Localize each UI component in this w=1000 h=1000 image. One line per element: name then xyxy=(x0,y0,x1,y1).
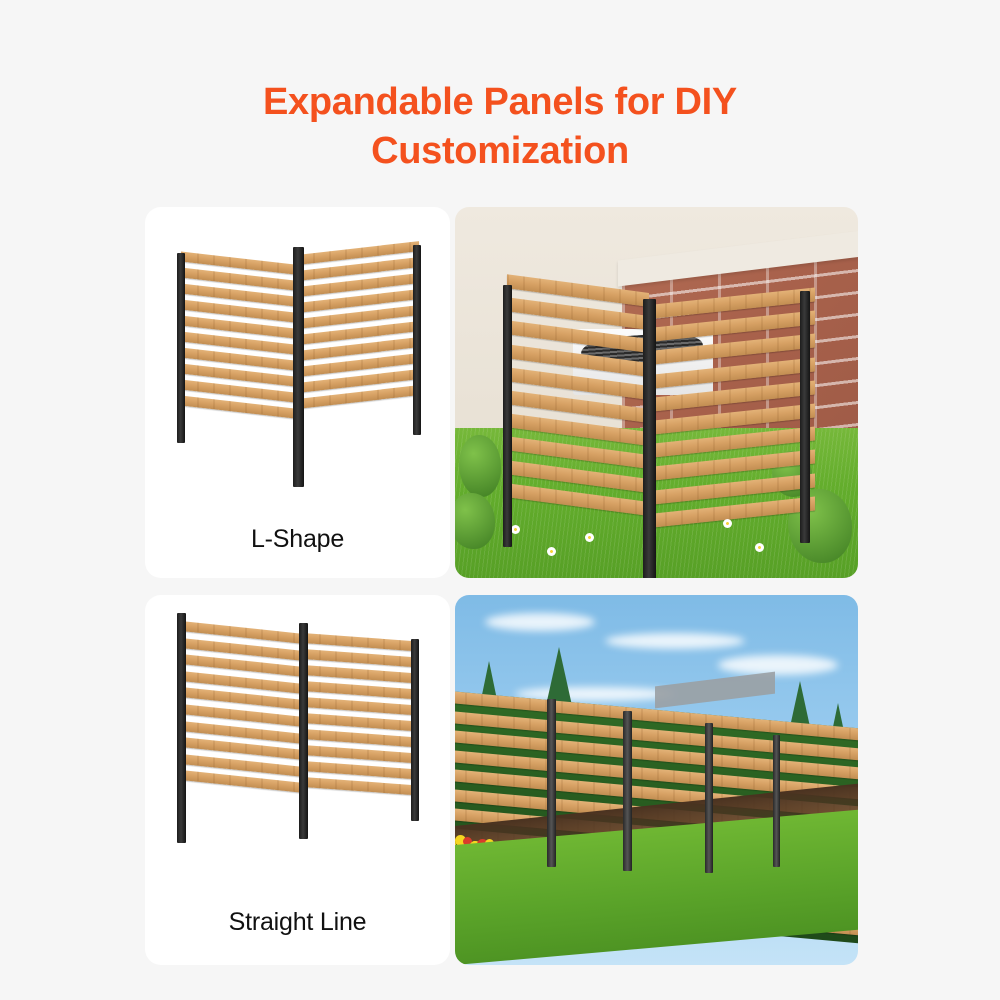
fence-post xyxy=(623,711,632,871)
page-title-line-2: Customization xyxy=(0,127,1000,176)
illustration-card-straight-line: Straight Line xyxy=(145,595,450,965)
straight-line-installation-photo xyxy=(455,595,858,965)
illustration-card-l-shape: L-Shape xyxy=(145,207,450,578)
feature-row-straight-line: Straight Line xyxy=(145,595,858,965)
fence-panel-right xyxy=(649,305,815,555)
page-title: Expandable Panels for DIY Customization xyxy=(0,78,1000,175)
caption-l-shape: L-Shape xyxy=(145,525,450,554)
fence-slat xyxy=(303,777,415,795)
fence-post xyxy=(177,253,185,443)
l-shape-installation-photo xyxy=(455,207,858,578)
fence-slat xyxy=(303,697,415,715)
fence-post xyxy=(293,247,304,487)
cloud xyxy=(605,633,745,649)
fence-post xyxy=(547,699,556,867)
fence-panel xyxy=(507,274,649,525)
daisy-flower xyxy=(755,543,764,552)
l-shape-fence-illustration xyxy=(145,207,450,578)
fence-slat xyxy=(303,729,415,747)
fence-post xyxy=(643,299,656,578)
fence-panel xyxy=(181,252,299,425)
daisy-flower xyxy=(723,519,732,528)
fence-panel xyxy=(649,288,815,537)
daisy-flower xyxy=(585,533,594,542)
fence-post xyxy=(503,285,512,547)
fence-slat xyxy=(303,633,415,651)
fence-panel xyxy=(303,633,415,801)
fence-slat xyxy=(303,713,415,731)
fence-post xyxy=(299,623,308,839)
daisy-flower xyxy=(547,547,556,556)
fence-panel xyxy=(297,241,419,415)
feature-row-l-shape: L-Shape xyxy=(145,207,858,578)
fence-slat xyxy=(303,649,415,667)
shrub xyxy=(459,435,501,497)
fence-slat xyxy=(303,745,415,763)
fence-post xyxy=(177,613,186,843)
cloud xyxy=(485,613,595,631)
page-title-line-1: Expandable Panels for DIY xyxy=(263,81,737,123)
fence-panel xyxy=(181,621,303,800)
fence-post xyxy=(773,735,780,867)
fence-slat xyxy=(303,761,415,779)
fence-slat xyxy=(303,681,415,699)
fence-post xyxy=(411,639,419,821)
fence-post xyxy=(413,245,421,435)
caption-straight-line: Straight Line xyxy=(145,908,450,937)
fence-slat xyxy=(303,665,415,683)
cloud xyxy=(718,655,838,675)
fence-post xyxy=(705,723,713,873)
daisy-flower xyxy=(511,525,520,534)
fence-panel-left xyxy=(507,293,649,543)
fence-post xyxy=(800,291,810,543)
